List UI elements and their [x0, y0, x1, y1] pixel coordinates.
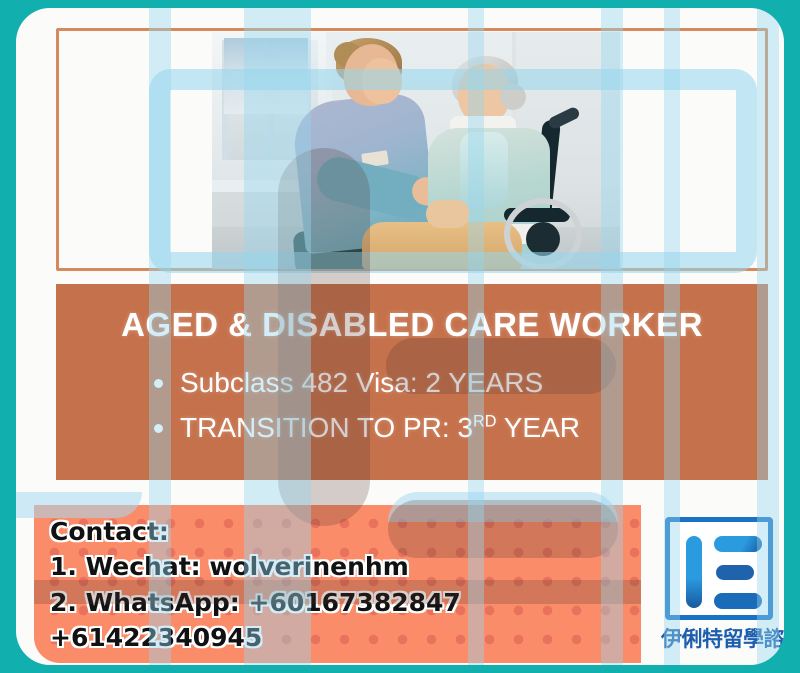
bullet-dot-icon	[154, 424, 163, 433]
poster-root: AGED & DISABLED CARE WORKER Subclass 482…	[0, 0, 800, 673]
banner-title: AGED & DISABLED CARE WORKER	[56, 306, 768, 344]
contact-whatsapp-line[interactable]: 2. WhatsApp: +60167382847	[50, 586, 641, 620]
care-worker-photo	[212, 32, 620, 269]
banner-bullet-item: Subclass 482 Visa: 2 YEARS	[152, 360, 768, 405]
contact-text-group: Contact: 1. Wechat: wolverinenhm 2. What…	[34, 505, 641, 655]
bullet-text-tail: YEAR	[496, 412, 580, 443]
info-banner: AGED & DISABLED CARE WORKER Subclass 482…	[56, 284, 768, 480]
contact-wechat-line[interactable]: 1. Wechat: wolverinenhm	[50, 550, 641, 584]
contact-phone-line[interactable]: +61422340945	[50, 621, 641, 655]
brand-logo: 伊俐特留學諮詢	[661, 517, 777, 657]
contact-heading: Contact:	[50, 515, 641, 549]
e-letter-logo-icon	[665, 517, 773, 620]
bullet-text: TRANSITION TO PR: 3	[180, 412, 473, 443]
brand-caption: 伊俐特留學諮詢	[661, 623, 777, 653]
contact-block: Contact: 1. Wechat: wolverinenhm 2. What…	[34, 505, 641, 663]
poster-card: AGED & DISABLED CARE WORKER Subclass 482…	[16, 8, 784, 665]
banner-bullet-list: Subclass 482 Visa: 2 YEARS TRANSITION TO…	[152, 360, 768, 451]
bullet-text: Subclass 482 Visa: 2 YEARS	[180, 367, 543, 398]
bullet-dot-icon	[154, 379, 163, 388]
bullet-text-superscript: RD	[473, 413, 496, 431]
banner-bullet-item: TRANSITION TO PR: 3RD YEAR	[152, 405, 768, 450]
